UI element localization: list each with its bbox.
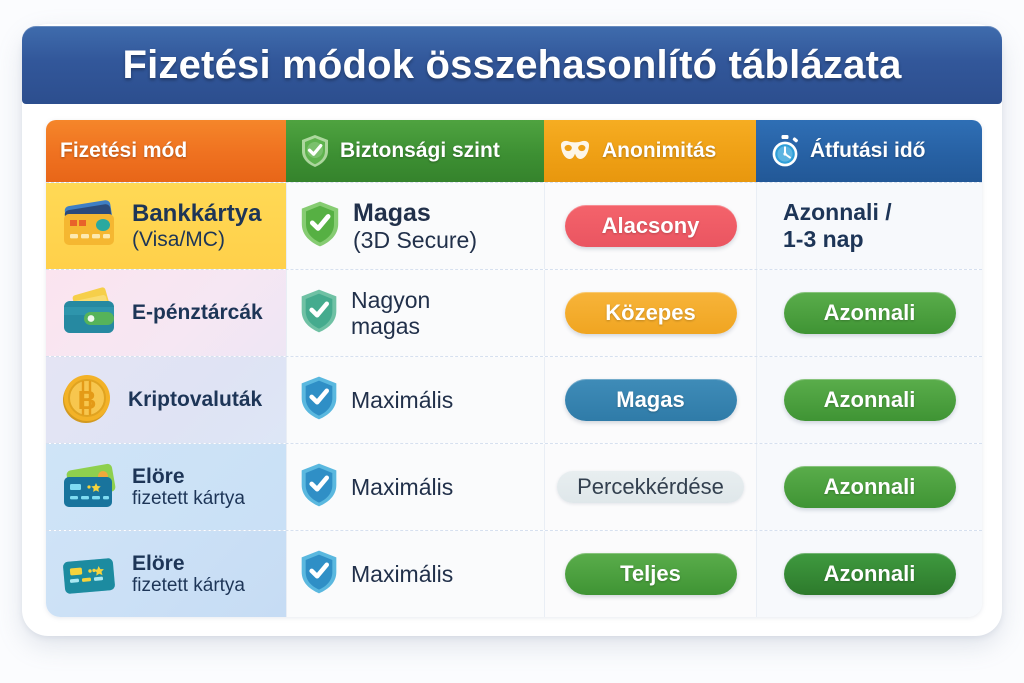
time-line-2: 1-3 nap xyxy=(783,226,970,253)
wallet-icon xyxy=(58,285,120,342)
cell-anonymity: Alacsony xyxy=(544,183,756,269)
method-name: Elöre xyxy=(132,465,185,488)
method-subtitle: fizetett kártya xyxy=(132,575,245,596)
anonymity-badge: Közepes xyxy=(565,292,737,335)
security-detail: magas xyxy=(351,313,430,339)
time-badge: Azonnali xyxy=(784,379,956,422)
cell-security: Nagyon magas xyxy=(286,270,544,356)
table-row: E-pénztárcák Nagyon magas Közepes Azonna… xyxy=(46,269,982,356)
security-level: Maximális xyxy=(351,387,453,413)
method-label: E-pénztárcák xyxy=(132,301,263,325)
method-subtitle: fizetett kártya xyxy=(132,488,245,509)
security-label: Nagyon magas xyxy=(351,287,430,339)
security-level: Magas xyxy=(353,199,477,227)
prepaid-card-teal-icon xyxy=(58,546,120,603)
security-level: Maximális xyxy=(351,474,453,500)
anonymity-line-2: kérdése xyxy=(646,475,724,500)
method-subtitle: (Visa/MC) xyxy=(132,228,261,252)
time-line-1: Azonnali / xyxy=(783,199,970,226)
stopwatch-icon xyxy=(770,134,800,168)
table-row: Elöre fizetett kártya Maximális Percek k… xyxy=(46,443,982,530)
time-value: Azonnali / 1-3 nap xyxy=(769,199,970,253)
table-header-row: Fizetési mód Biztonsági szint xyxy=(46,120,982,182)
column-header-method: Fizetési mód xyxy=(46,120,286,182)
cell-anonymity: Magas xyxy=(544,357,756,443)
shield-check-icon xyxy=(299,549,339,600)
cell-time: Azonnali / 1-3 nap xyxy=(756,183,982,269)
column-header-security: Biztonsági szint xyxy=(286,120,544,182)
anonymity-badge: Magas xyxy=(565,379,737,422)
security-label: Maximális xyxy=(351,387,453,413)
method-name: Bankkártya xyxy=(132,200,261,227)
prepaid-card-green-icon xyxy=(58,459,120,516)
mask-icon xyxy=(558,138,592,164)
cell-anonymity: Közepes xyxy=(544,270,756,356)
cell-method: Elöre fizetett kártya xyxy=(46,444,286,530)
column-header-anonymity-label: Anonimitás xyxy=(602,139,716,163)
table-row: B Kriptovaluták Maximális Magas xyxy=(46,356,982,443)
method-label: Kriptovaluták xyxy=(128,388,262,412)
anonymity-badge: Teljes xyxy=(565,553,737,596)
column-header-anonymity: Anonimitás xyxy=(544,120,756,182)
column-header-time-label: Átfutási idő xyxy=(810,139,926,163)
cell-security: Maximális xyxy=(286,444,544,530)
security-detail: (3D Secure) xyxy=(353,227,477,253)
method-label: Elöre fizetett kártya xyxy=(132,465,245,510)
cell-time: Azonnali xyxy=(756,270,982,356)
time-badge: Azonnali xyxy=(784,292,956,335)
method-name: Elöre xyxy=(132,552,185,575)
method-label: Bankkártya (Visa/MC) xyxy=(132,201,261,251)
cell-method: B Kriptovaluták xyxy=(46,357,286,443)
bitcoin-coin-icon: B xyxy=(58,371,116,430)
cell-method: E-pénztárcák xyxy=(46,270,286,356)
cell-method: Bankkártya (Visa/MC) xyxy=(46,183,286,269)
method-name: Kriptovaluták xyxy=(128,388,262,411)
svg-text:B: B xyxy=(78,385,97,415)
comparison-table: Fizetési mód Biztonsági szint xyxy=(46,120,982,617)
shield-check-icon xyxy=(299,200,341,253)
security-level: Maximális xyxy=(351,561,453,587)
table-row: Bankkártya (Visa/MC) Magas (3D Secure) A… xyxy=(46,182,982,269)
cell-anonymity: Percek kérdése xyxy=(544,444,756,530)
cell-time: Azonnali xyxy=(756,444,982,530)
method-label: Elöre fizetett kártya xyxy=(132,552,245,597)
title-banner: Fizetési módok összehasonlító táblázata xyxy=(22,26,1002,104)
column-header-time: Átfutási idő xyxy=(756,120,982,182)
anonymity-badge: Alacsony xyxy=(565,205,737,248)
security-label: Maximális xyxy=(351,474,453,500)
cell-time: Azonnali xyxy=(756,531,982,617)
anonymity-badge: Percek kérdése xyxy=(557,471,744,504)
security-label: Maximális xyxy=(351,561,453,587)
cell-security: Maximális xyxy=(286,357,544,443)
credit-card-icon xyxy=(58,198,120,255)
security-label: Magas (3D Secure) xyxy=(353,199,477,253)
anonymity-line-1: Percek xyxy=(577,475,645,500)
shield-check-icon xyxy=(299,462,339,513)
column-header-security-label: Biztonsági szint xyxy=(340,139,500,163)
time-badge: Azonnali xyxy=(784,466,956,509)
page-title: Fizetési módok összehasonlító táblázata xyxy=(122,43,901,88)
cell-anonymity: Teljes xyxy=(544,531,756,617)
method-name: E-pénztárcák xyxy=(132,301,263,324)
shield-check-icon xyxy=(299,288,339,339)
security-level: Nagyon xyxy=(351,287,430,313)
cell-time: Azonnali xyxy=(756,357,982,443)
column-header-method-label: Fizetési mód xyxy=(60,139,187,163)
cell-security: Magas (3D Secure) xyxy=(286,183,544,269)
time-badge: Azonnali xyxy=(784,553,956,596)
cell-method: Elöre fizetett kártya xyxy=(46,531,286,617)
shield-check-icon xyxy=(299,375,339,426)
table-row: Elöre fizetett kártya Maximális Teljes A… xyxy=(46,530,982,617)
shield-check-icon xyxy=(300,134,330,168)
cell-security: Maximális xyxy=(286,531,544,617)
